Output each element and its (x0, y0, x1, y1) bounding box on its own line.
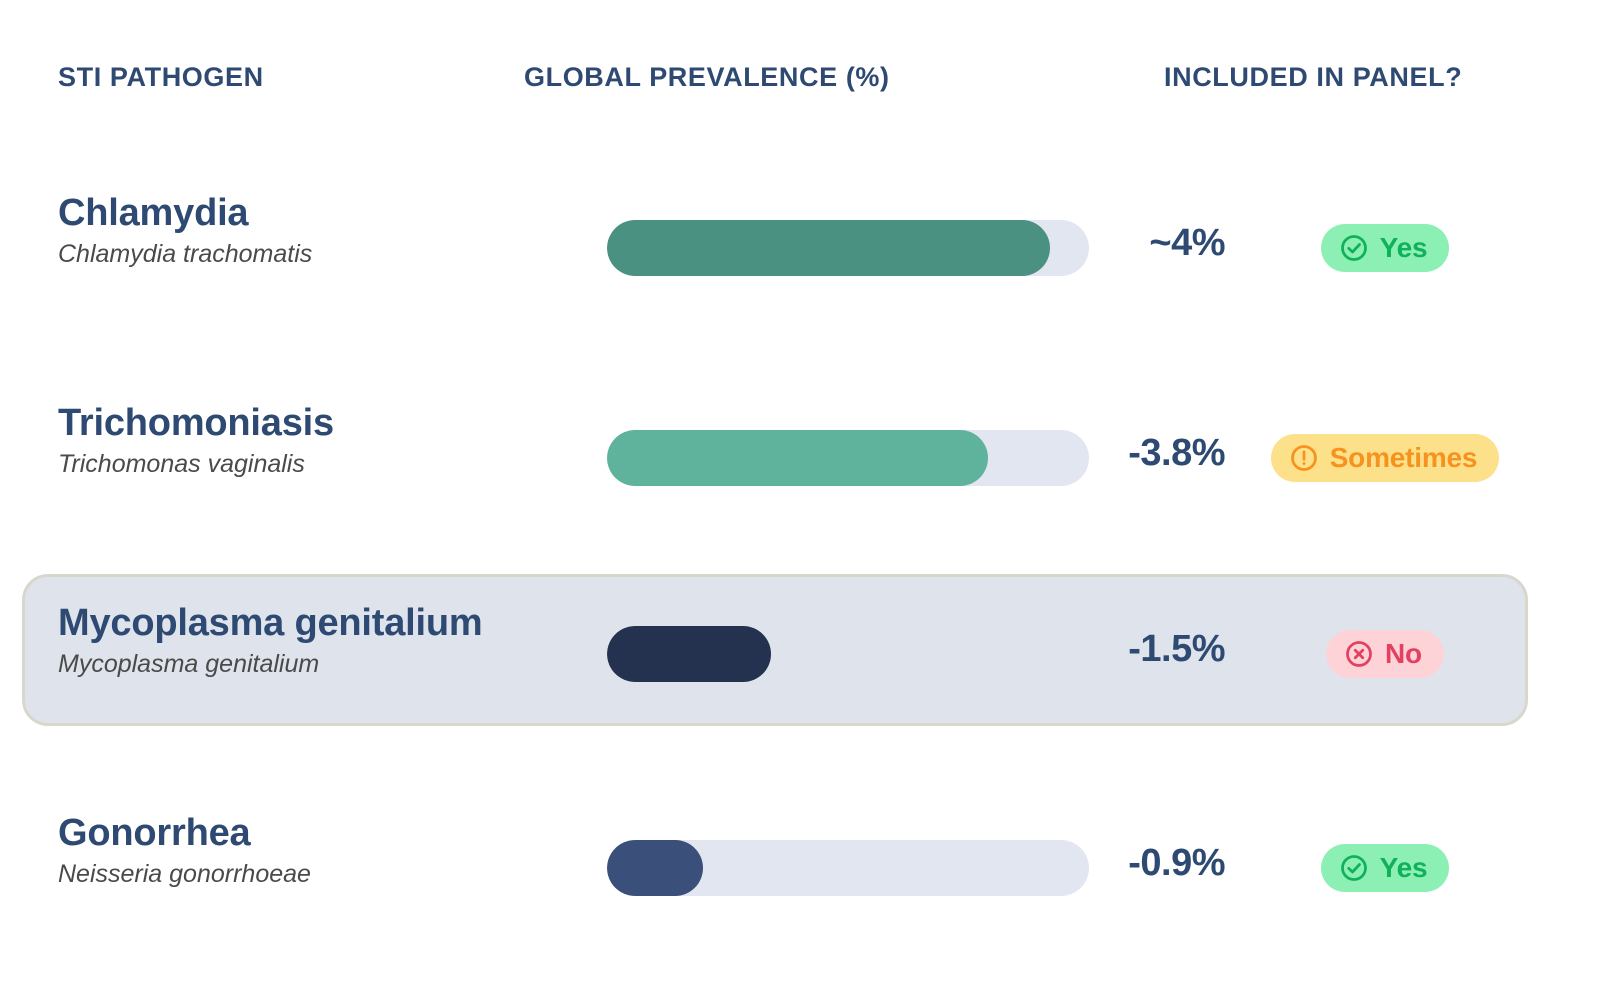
exclamation-circle-icon (1289, 443, 1319, 473)
pathogen-name-cell: Chlamydia Chlamydia trachomatis (58, 192, 598, 269)
table-row[interactable]: Chlamydia Chlamydia trachomatis ~4% Yes (0, 170, 1600, 320)
pathogen-scientific-name: Chlamydia trachomatis (58, 239, 598, 269)
check-circle-icon (1339, 853, 1369, 883)
table-row[interactable]: Gonorrhea Neisseria gonorrhoeae -0.9% Ye… (0, 790, 1600, 940)
status-badge[interactable]: No (1326, 630, 1444, 678)
column-header-prevalence: Global Prevalence (%) (524, 62, 890, 93)
status-badge[interactable]: Sometimes (1271, 434, 1500, 482)
pathogen-common-name: Gonorrhea (58, 812, 598, 855)
column-header-pathogen: STI Pathogen (58, 62, 264, 93)
check-circle-icon (1339, 233, 1369, 263)
prevalence-value: -1.5% (1020, 628, 1225, 671)
pathogen-scientific-name: Mycoplasma genitalium (58, 649, 598, 679)
status-badge-label: Yes (1380, 854, 1428, 882)
prevalence-value: -3.8% (1020, 432, 1225, 475)
status-badge-label: No (1385, 640, 1422, 668)
pathogen-common-name: Chlamydia (58, 192, 598, 235)
table-row[interactable]: Trichomoniasis Trichomonas vaginalis -3.… (0, 380, 1600, 530)
status-badge[interactable]: Yes (1321, 844, 1450, 892)
status-badge-label: Sometimes (1330, 444, 1478, 472)
panel-status-cell: Sometimes (1235, 428, 1535, 488)
panel-status-cell: Yes (1235, 838, 1535, 898)
prevalence-bar-fill (607, 840, 703, 896)
prevalence-bar-track (607, 626, 1089, 682)
status-badge[interactable]: Yes (1321, 224, 1450, 272)
column-header-panel: Included in Panel? (1164, 62, 1462, 93)
pathogen-common-name: Trichomoniasis (58, 402, 598, 445)
prevalence-value: ~4% (1020, 222, 1225, 265)
status-badge-label: Yes (1380, 234, 1428, 262)
pathogen-scientific-name: Trichomonas vaginalis (58, 449, 598, 479)
pathogen-name-cell: Mycoplasma genitalium Mycoplasma genital… (58, 602, 598, 679)
prevalence-bar-fill (607, 626, 771, 682)
prevalence-bar-fill (607, 430, 988, 486)
pathogen-common-name: Mycoplasma genitalium (58, 602, 598, 645)
sti-panel-table: STI Pathogen Global Prevalence (%) Inclu… (0, 0, 1600, 992)
x-circle-icon (1344, 639, 1374, 669)
prevalence-bar-track (607, 840, 1089, 896)
prevalence-bar-track (607, 220, 1089, 276)
prevalence-value: -0.9% (1020, 842, 1225, 885)
panel-status-cell: Yes (1235, 218, 1535, 278)
pathogen-name-cell: Gonorrhea Neisseria gonorrhoeae (58, 812, 598, 889)
prevalence-bar-fill (607, 220, 1050, 276)
prevalence-bar-track (607, 430, 1089, 486)
pathogen-name-cell: Trichomoniasis Trichomonas vaginalis (58, 402, 598, 479)
table-header-row: STI Pathogen Global Prevalence (%) Inclu… (0, 62, 1600, 114)
pathogen-scientific-name: Neisseria gonorrhoeae (58, 859, 598, 889)
table-row-highlighted[interactable]: Mycoplasma genitalium Mycoplasma genital… (0, 574, 1600, 726)
panel-status-cell: No (1235, 624, 1535, 684)
